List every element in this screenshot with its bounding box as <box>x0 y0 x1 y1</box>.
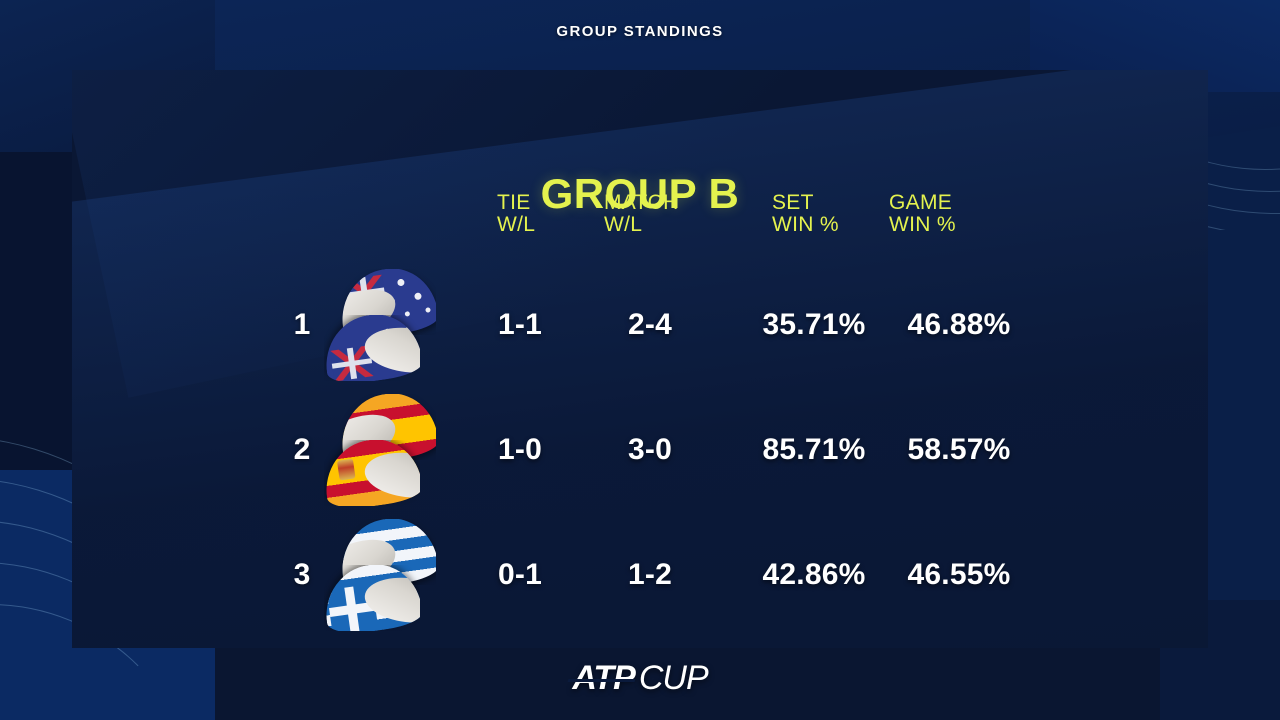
standings-panel: GROUP B TIEW/L MATCHW/L SETWIN % GAMEWIN… <box>72 70 1208 648</box>
cell-set-win-pct: 85.71% <box>744 433 884 467</box>
atp-cup-logo: ATPCUP <box>572 659 707 698</box>
spain-flag-badge <box>322 392 438 508</box>
col-match-l1: MATCH <box>604 191 679 214</box>
cell-game-win-pct: 58.57% <box>884 433 1034 467</box>
cell-match-wl: 1-2 <box>602 558 698 592</box>
col-set-l1: SET <box>772 191 814 214</box>
cell-game-win-pct: 46.88% <box>884 308 1034 342</box>
column-header-set-win-pct: SETWIN % <box>772 192 839 236</box>
greece-flag-badge <box>322 517 438 633</box>
cell-set-win-pct: 35.71% <box>744 308 884 342</box>
cell-tie-wl: 1-0 <box>472 433 568 467</box>
table-row[interactable]: 1 <box>72 262 1208 387</box>
rank-number: 1 <box>284 308 320 342</box>
cell-set-win-pct: 42.86% <box>744 558 884 592</box>
column-header-tie-wl: TIEW/L <box>497 192 535 236</box>
footer: ATPCUP <box>0 652 1280 704</box>
australia-flag-badge <box>322 267 438 383</box>
col-game-l2: WIN % <box>889 213 956 236</box>
col-match-l2: W/L <box>604 213 642 236</box>
col-tie-l2: W/L <box>497 213 535 236</box>
standings-table: TIEW/L MATCHW/L SETWIN % GAMEWIN % 1 <box>72 70 1208 648</box>
table-column-headers: TIEW/L MATCHW/L SETWIN % GAMEWIN % <box>72 192 1208 252</box>
cell-tie-wl: 0-1 <box>472 558 568 592</box>
col-set-l2: WIN % <box>772 213 839 236</box>
cell-match-wl: 2-4 <box>602 308 698 342</box>
flag-crescent-bottom <box>324 565 420 631</box>
rank-number: 2 <box>284 433 320 467</box>
flag-crescent-bottom <box>324 315 420 381</box>
column-header-match-wl: MATCHW/L <box>604 192 679 236</box>
cell-match-wl: 3-0 <box>602 433 698 467</box>
table-row[interactable]: 3 0-1 1-2 <box>72 512 1208 637</box>
cell-game-win-pct: 46.55% <box>884 558 1034 592</box>
flag-crescent-bottom <box>324 440 420 506</box>
col-tie-l1: TIE <box>497 191 531 214</box>
standings-graphic: GROUP STANDINGS GROUP B TIEW/L MATCHW/L … <box>0 0 1280 720</box>
rank-number: 3 <box>284 558 320 592</box>
col-game-l1: GAME <box>889 191 952 214</box>
cell-tie-wl: 1-1 <box>472 308 568 342</box>
cup-logo-text: CUP <box>639 659 708 698</box>
column-header-game-win-pct: GAMEWIN % <box>889 192 956 236</box>
atp-logo-text: ATP <box>572 659 636 698</box>
table-row[interactable]: 2 1-0 3-0 <box>72 387 1208 512</box>
page-header: GROUP STANDINGS <box>0 0 1280 62</box>
page-title: GROUP STANDINGS <box>556 23 723 40</box>
